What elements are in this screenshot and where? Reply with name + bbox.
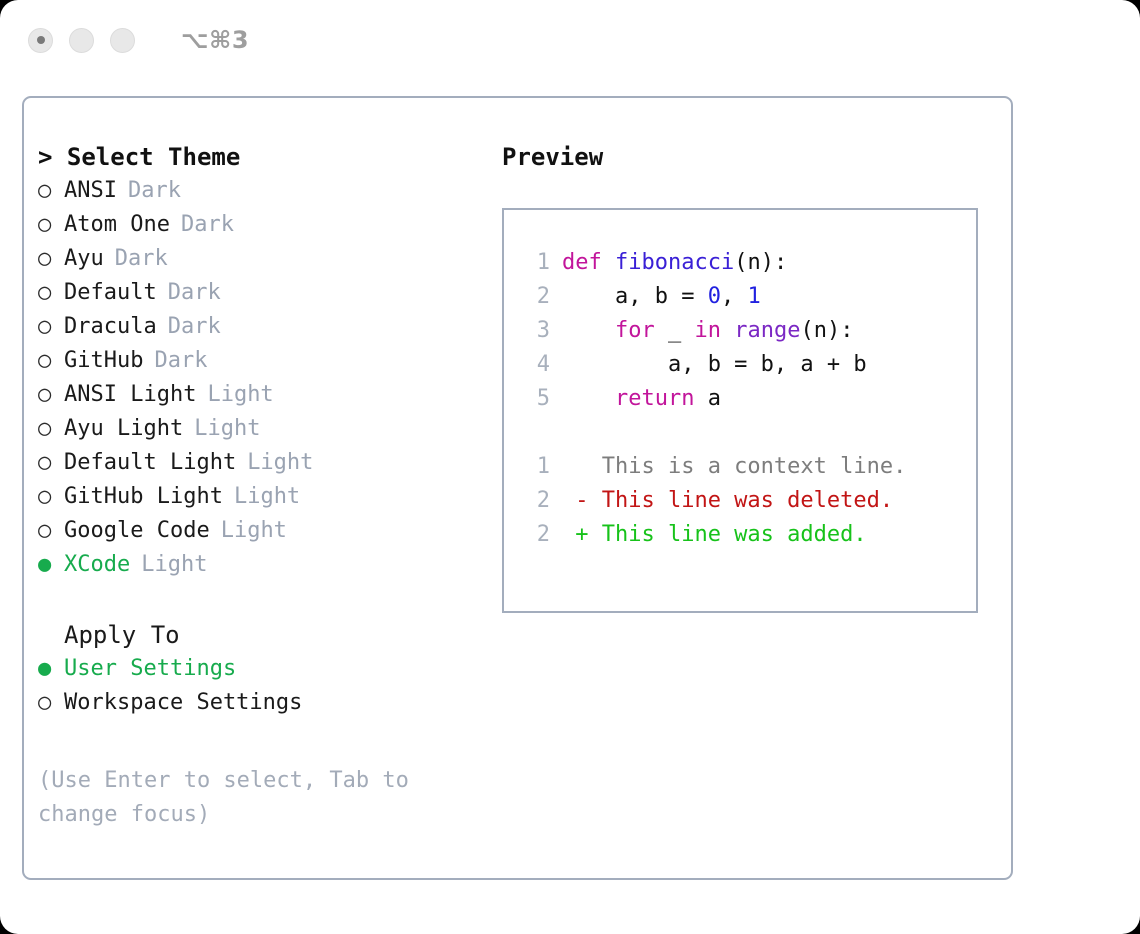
line-number: 4 xyxy=(518,348,550,382)
theme-item-8[interactable]: ○Default LightLight xyxy=(38,446,498,480)
line-number: 1 xyxy=(518,246,550,280)
select-theme-heading: > Select Theme xyxy=(38,140,498,174)
preview-column: Preview 1def fibonacci(n):2 a, b = 0, 13… xyxy=(502,140,1002,613)
theme-item-tag: Dark xyxy=(154,344,207,378)
theme-item-label: Ayu xyxy=(64,242,104,276)
theme-item-label: GitHub xyxy=(64,344,143,378)
token-txt xyxy=(562,386,615,411)
diff-line: 2 + This line was added. xyxy=(518,518,976,552)
line-number: 2 xyxy=(518,280,550,314)
theme-list: ○ANSIDark○Atom OneDark○AyuDark○DefaultDa… xyxy=(38,174,498,582)
diff-line: 1 This is a context line. xyxy=(518,450,976,484)
line-number: 2 xyxy=(518,484,550,518)
preview-heading: Preview xyxy=(502,140,1002,174)
radio-unselected-icon: ○ xyxy=(38,174,64,208)
apply-to-heading: Apply To xyxy=(38,618,498,652)
code-line: 2 a, b = 0, 1 xyxy=(518,280,976,314)
token-txt: a, b = b, a + b xyxy=(562,352,867,377)
code-line: 4 a, b = b, a + b xyxy=(518,348,976,382)
theme-item-11[interactable]: ●XCodeLight xyxy=(38,548,498,582)
theme-item-10[interactable]: ○Google CodeLight xyxy=(38,514,498,548)
token-ctx: This is a context line. xyxy=(562,454,906,479)
token-txt: a, b = xyxy=(562,284,708,309)
theme-item-tag: Dark xyxy=(128,174,181,208)
theme-item-2[interactable]: ○AyuDark xyxy=(38,242,498,276)
theme-item-4[interactable]: ○DraculaDark xyxy=(38,310,498,344)
diff-content: + This line was added. xyxy=(562,518,867,552)
line-number: 5 xyxy=(518,382,550,416)
theme-item-9[interactable]: ○GitHub LightLight xyxy=(38,480,498,514)
token-call: range xyxy=(734,318,800,343)
line-number: 3 xyxy=(518,314,550,348)
code-line: 3 for _ in range(n): xyxy=(518,314,976,348)
radio-unselected-icon: ○ xyxy=(38,208,64,242)
token-del: - This line was deleted. xyxy=(562,488,893,513)
token-kw: for xyxy=(615,318,655,343)
theme-item-tag: Light xyxy=(194,412,260,446)
theme-item-tag: Dark xyxy=(168,310,221,344)
help-text: (Use Enter to select, Tab to change focu… xyxy=(38,764,458,832)
theme-item-tag: Light xyxy=(247,446,313,480)
app-window: ⌥⌘3 > Select Theme ○ANSIDark○Atom OneDar… xyxy=(0,0,1140,934)
theme-item-1[interactable]: ○Atom OneDark xyxy=(38,208,498,242)
token-txt: , xyxy=(721,284,748,309)
theme-item-label: Google Code xyxy=(64,514,210,548)
theme-item-label: GitHub Light xyxy=(64,480,223,514)
radio-unselected-icon: ○ xyxy=(38,514,64,548)
keyboard-shortcut-label: ⌥⌘3 xyxy=(181,26,249,54)
token-kw: in xyxy=(694,318,721,343)
token-txt: a xyxy=(694,386,721,411)
title-bar: ⌥⌘3 xyxy=(0,0,1140,80)
apply-item-0[interactable]: ●User Settings xyxy=(38,652,498,686)
theme-item-5[interactable]: ○GitHubDark xyxy=(38,344,498,378)
window-button-3[interactable] xyxy=(110,28,135,53)
code-content: a, b = 0, 1 xyxy=(562,280,761,314)
theme-item-tag: Light xyxy=(234,480,300,514)
token-kw: return xyxy=(615,386,694,411)
apply-to-list: ●User Settings○Workspace Settings xyxy=(38,652,498,720)
diff-content: - This line was deleted. xyxy=(562,484,893,518)
code-content: return a xyxy=(562,382,721,416)
theme-item-label: Default Light xyxy=(64,446,236,480)
code-sample: 1def fibonacci(n):2 a, b = 0, 13 for _ i… xyxy=(518,246,976,416)
theme-item-tag: Dark xyxy=(181,208,234,242)
token-txt xyxy=(562,318,615,343)
line-number: 2 xyxy=(518,518,550,552)
code-content: a, b = b, a + b xyxy=(562,348,867,382)
preview-box: 1def fibonacci(n):2 a, b = 0, 13 for _ i… xyxy=(502,208,978,613)
radio-unselected-icon: ○ xyxy=(38,310,64,344)
diff-line: 2 - This line was deleted. xyxy=(518,484,976,518)
apply-item-label: Workspace Settings xyxy=(64,686,302,720)
radio-unselected-icon: ○ xyxy=(38,344,64,378)
code-content: for _ in range(n): xyxy=(562,314,853,348)
apply-item-label: User Settings xyxy=(64,652,236,686)
token-txt: (n): xyxy=(734,250,787,275)
token-txt: _ xyxy=(655,318,695,343)
token-kw: def xyxy=(562,250,615,275)
token-fn: fibonacci xyxy=(615,250,734,275)
main-panel: > Select Theme ○ANSIDark○Atom OneDark○Ay… xyxy=(22,96,1013,880)
apply-item-1[interactable]: ○Workspace Settings xyxy=(38,686,498,720)
radio-unselected-icon: ○ xyxy=(38,446,64,480)
radio-unselected-icon: ○ xyxy=(38,480,64,514)
code-spacer xyxy=(518,416,976,450)
code-line: 1def fibonacci(n): xyxy=(518,246,976,280)
diff-content: This is a context line. xyxy=(562,450,906,484)
theme-item-label: ANSI xyxy=(64,174,117,208)
theme-item-7[interactable]: ○Ayu LightLight xyxy=(38,412,498,446)
theme-item-0[interactable]: ○ANSIDark xyxy=(38,174,498,208)
radio-unselected-icon: ○ xyxy=(38,276,64,310)
token-txt xyxy=(721,318,734,343)
token-add: + This line was added. xyxy=(562,522,867,547)
theme-item-label: Default xyxy=(64,276,157,310)
line-number: 1 xyxy=(518,450,550,484)
code-line: 5 return a xyxy=(518,382,976,416)
theme-item-label: Dracula xyxy=(64,310,157,344)
theme-item-3[interactable]: ○DefaultDark xyxy=(38,276,498,310)
theme-item-tag: Light xyxy=(207,378,273,412)
radio-unselected-icon: ○ xyxy=(38,412,64,446)
code-content: def fibonacci(n): xyxy=(562,246,787,280)
apply-to-section: Apply To ●User Settings○Workspace Settin… xyxy=(38,618,498,720)
radio-unselected-icon: ○ xyxy=(38,242,64,276)
theme-item-tag: Dark xyxy=(168,276,221,310)
token-num: 1 xyxy=(747,284,760,309)
window-button-active-dot-icon xyxy=(37,36,45,44)
token-txt: (n): xyxy=(800,318,853,343)
window-button-1[interactable] xyxy=(28,28,53,53)
radio-unselected-icon: ○ xyxy=(38,686,64,720)
theme-item-6[interactable]: ○ANSI LightLight xyxy=(38,378,498,412)
theme-item-tag: Light xyxy=(141,548,207,582)
theme-selector-column: > Select Theme ○ANSIDark○Atom OneDark○Ay… xyxy=(38,140,498,832)
theme-item-tag: Dark xyxy=(115,242,168,276)
radio-unselected-icon: ○ xyxy=(38,378,64,412)
theme-item-tag: Light xyxy=(221,514,287,548)
theme-item-label: Ayu Light xyxy=(64,412,183,446)
theme-item-label: ANSI Light xyxy=(64,378,196,412)
token-num: 0 xyxy=(708,284,721,309)
diff-sample: 1 This is a context line.2 - This line w… xyxy=(518,450,976,552)
window-button-2[interactable] xyxy=(69,28,94,53)
radio-selected-icon: ● xyxy=(38,548,64,582)
theme-item-label: Atom One xyxy=(64,208,170,242)
radio-selected-icon: ● xyxy=(38,652,64,686)
theme-item-label: XCode xyxy=(64,548,130,582)
